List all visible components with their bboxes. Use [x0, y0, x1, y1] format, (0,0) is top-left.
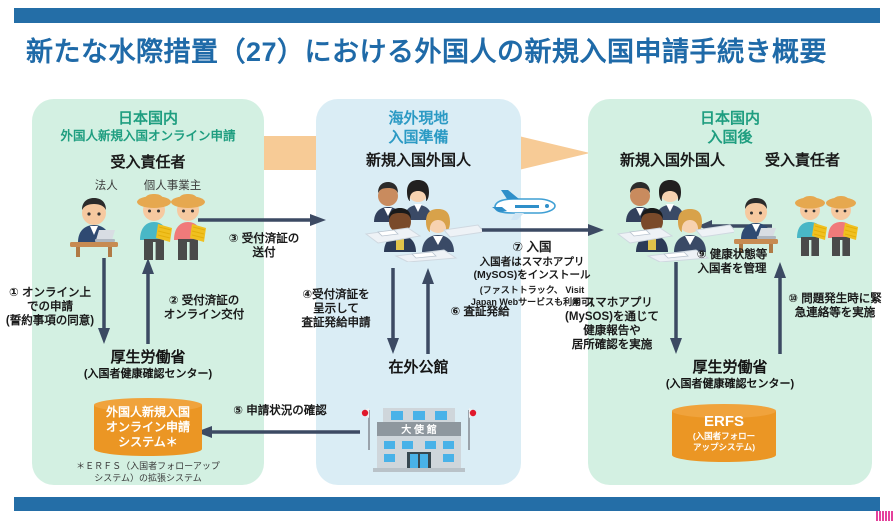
top-accent-bar: [14, 8, 880, 23]
cylinder-label: 外国人新規入国 オンライン申請 システム＊: [94, 398, 202, 456]
airplane-icon: [489, 188, 559, 222]
system-line-3: システム＊: [118, 435, 178, 450]
label-step-10: ⑩ 問題発生時に緊 急連絡等を実施: [782, 292, 888, 320]
panel-left-actor: 受入責任者: [32, 151, 264, 172]
embassy-building-icon: 大 使 館: [355, 392, 483, 472]
panel-left-location: 日本国内: [32, 109, 264, 128]
bottom-accent-bar: [14, 497, 880, 511]
host-person-at-desk-icon: [728, 196, 784, 254]
embassy-sign-text: 大 使 館: [401, 423, 437, 436]
label-step-9: ⑨ 健康状態等 入国者を管理: [684, 248, 780, 276]
org-mhlw-left: 厚生労働省 (入国者健康確認センター): [32, 348, 264, 381]
erfs-line-3: アップシステム): [693, 442, 755, 453]
system-cylinder-online-application: 外国人新規入国 オンライン申請 システム＊: [94, 398, 202, 456]
erfs-line-1: ERFS: [704, 413, 744, 431]
label-step-1: ① オンライン上 での申請 (誓約事項の同意): [4, 286, 96, 328]
arrow-step1-down-icon: [96, 258, 112, 344]
label-step-5: ⑤ 申請状況の確認: [196, 404, 364, 418]
panel-right-location-line1: 日本国内: [588, 109, 872, 128]
arrow-step4-down-icon: [385, 268, 401, 354]
label-step-4: ④受付済証を 呈示して 査証発給申請: [288, 288, 384, 330]
arrow-step5-left-icon: [196, 424, 360, 440]
org-mhlw-right: 厚生労働省 (入国者健康確認センター): [588, 358, 872, 391]
panel-left-subtitle: 外国人新規入国オンライン申請: [32, 128, 264, 144]
person-at-desk-icon: [62, 196, 126, 258]
label-step-8: ⑧ スマホアプリ (MySOS)を通じて 健康報告や 居所確認を実施: [552, 296, 672, 352]
label-step-7-head: ⑦ 入国: [456, 240, 608, 254]
actor-type-corporation: 法人: [95, 177, 118, 193]
panel-right-heading: 日本国内 入国後: [588, 109, 872, 147]
org-overseas-mission: 在外公館: [316, 358, 521, 377]
host-farmers-icon: [786, 192, 864, 256]
panel-right-actor-foreigner: 新規入国外国人: [620, 149, 725, 170]
system-cylinder-erfs: ERFS (入国者フォロー アップシステム): [672, 404, 776, 462]
panel-mid-actor: 新規入国外国人: [316, 149, 521, 170]
system-line-1: 外国人新規入国: [106, 405, 190, 420]
panel-right-location-line2: 入国後: [588, 128, 872, 147]
org-mhlw-left-name: 厚生労働省: [32, 348, 264, 367]
system-line-2: オンライン申請: [106, 420, 190, 435]
org-mhlw-right-paren: (入国者健康確認センター): [588, 377, 872, 391]
arrow-step6-up-icon: [420, 268, 436, 354]
page-marker: [876, 511, 894, 521]
erfs-line-2: (入国者フォロー: [693, 431, 755, 442]
arrow-step3-right-icon: [198, 212, 326, 228]
label-step-2: ② 受付済証の オンライン交付: [150, 294, 258, 322]
cylinder-label-erfs: ERFS (入国者フォロー アップシステム): [672, 404, 776, 462]
label-step-7-body: 入国者はスマホアプリ (MySOS)をインストール: [452, 256, 612, 282]
panel-mid-location-line2: 入国準備: [316, 128, 521, 147]
arrow-step7-right-icon: [464, 222, 604, 238]
label-step-3: ③ 受付済証の 送付: [212, 232, 316, 260]
org-overseas-mission-name: 在外公館: [316, 358, 521, 377]
panel-right-actor-host: 受入責任者: [765, 149, 840, 170]
footnote-erfs: ＊ＥＲＦＳ（入国者フォローアップ システム）の拡張システム: [34, 460, 262, 484]
two-farmers-icon: [128, 190, 212, 260]
panel-right-actors: 新規入国外国人 受入責任者: [588, 149, 872, 170]
panel-mid-location-line1: 海外現地: [316, 109, 521, 128]
panel-left-heading: 日本国内 外国人新規入国オンライン申請: [32, 109, 264, 144]
org-mhlw-right-name: 厚生労働省: [588, 358, 872, 377]
diagram-canvas: 新たな水際措置（27）における外国人の新規入国申請手続き概要 日本国内 外国人新…: [0, 0, 896, 523]
page-title: 新たな水際措置（27）における外国人の新規入国申請手続き概要: [26, 30, 866, 69]
panel-mid-heading: 海外現地 入国準備: [316, 109, 521, 147]
org-mhlw-left-paren: (入国者健康確認センター): [32, 367, 264, 381]
